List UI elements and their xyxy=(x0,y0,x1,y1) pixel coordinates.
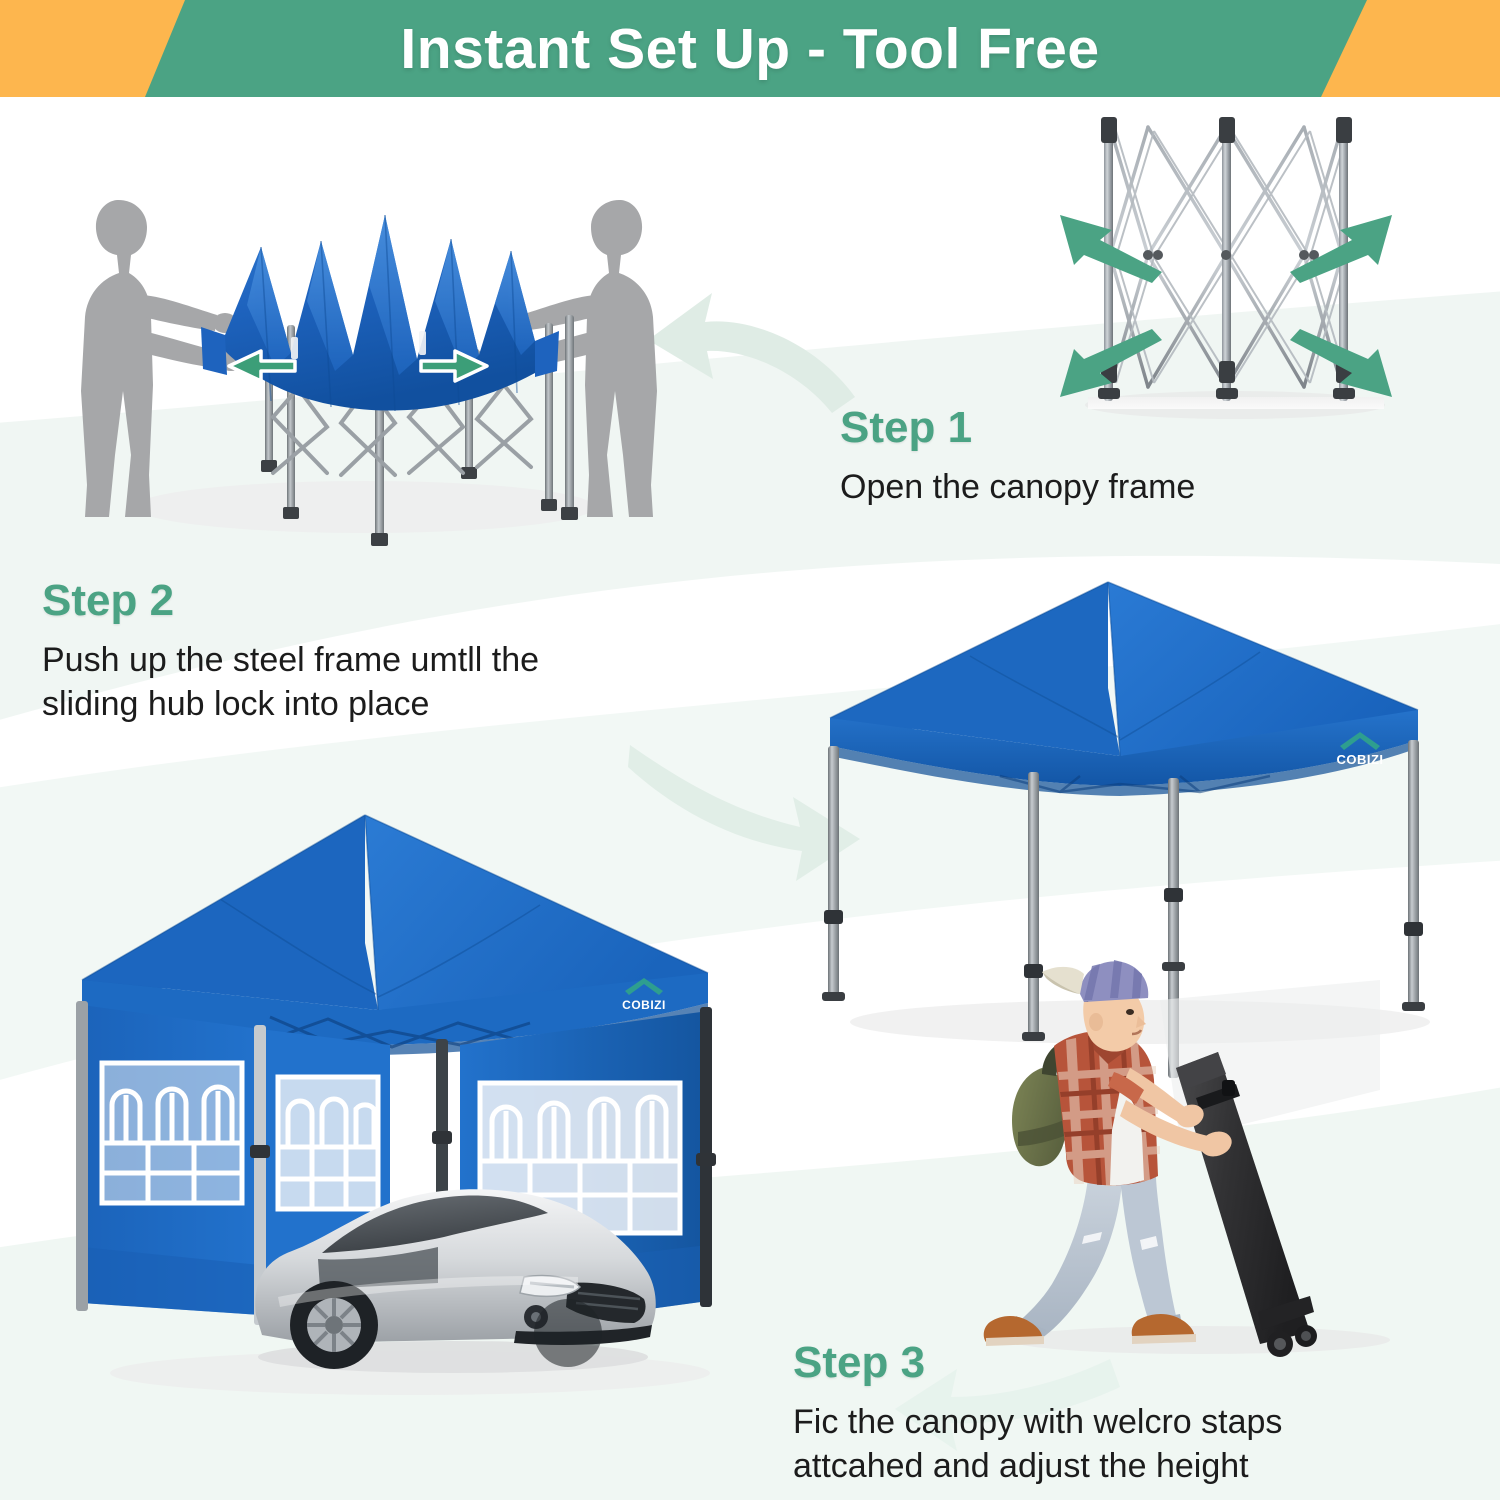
canopy-with-sidewalls-illustration: COBIZI xyxy=(60,795,735,1405)
step2-illustration xyxy=(65,155,675,565)
step2-description: Push up the steel frame umtll the slidin… xyxy=(42,638,642,726)
header-banner: Instant Set Up - Tool Free xyxy=(0,0,1500,97)
step2-title: Step 2 xyxy=(42,578,642,624)
step3-title: Step 3 xyxy=(793,1340,1373,1386)
sidewall-left xyxy=(82,1005,260,1315)
baseball-cap xyxy=(1042,960,1148,1002)
man-with-carry-bag-illustration xyxy=(980,940,1400,1360)
infographic-root: Instant Set Up - Tool Free xyxy=(0,0,1500,1500)
step1-text-block: Step 1 Open the canopy frame xyxy=(840,405,1270,509)
brand-name-walls: COBIZI xyxy=(622,998,666,1012)
step1-title: Step 1 xyxy=(840,405,1270,451)
folded-canopy-fabric xyxy=(201,215,559,411)
step1-illustration xyxy=(1040,105,1430,435)
page-title: Instant Set Up - Tool Free xyxy=(0,0,1500,97)
step3-text-block: Step 3 Fic the canopy with welcro staps … xyxy=(793,1340,1373,1489)
step1-description: Open the canopy frame xyxy=(840,465,1270,509)
brand-name: COBIZI xyxy=(1336,752,1383,767)
step2-text-block: Step 2 Push up the steel frame umtll the… xyxy=(42,578,642,727)
plaid-shirt xyxy=(1054,1031,1160,1186)
step3-description: Fic the canopy with welcro staps attcahe… xyxy=(793,1400,1373,1488)
